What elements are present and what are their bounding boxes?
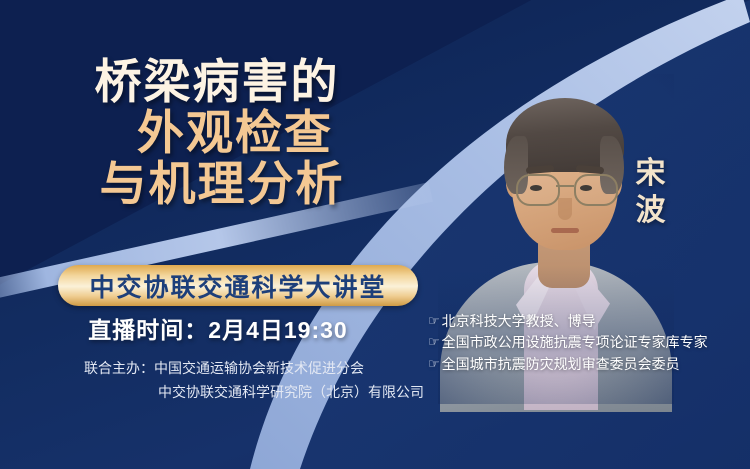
- credential-item: ☞ 全国市政公用设施抗震专项论证专家库专家: [428, 332, 746, 353]
- title-line-3: 与机理分析: [4, 160, 440, 209]
- speaker-name-char-1: 宋: [630, 156, 672, 193]
- credential-item: ☞ 全国城市抗震防灾规划审查委员会委员: [428, 354, 746, 375]
- page-title: 桥梁病害的 外观检查 与机理分析: [0, 58, 440, 209]
- pointing-hand-icon: ☞: [428, 354, 440, 374]
- pointing-hand-icon: ☞: [428, 332, 440, 352]
- organizer-line-1: 联合主办：中国交通运输协会新技术促进分会: [84, 356, 444, 380]
- credential-text: 全国城市抗震防灾规划审查委员会委员: [442, 354, 680, 375]
- speaker-name-char-2: 波: [630, 193, 672, 230]
- organizers-block: 联合主办：中国交通运输协会新技术促进分会 中交协联交通科学研究院（北京）有限公司: [84, 356, 444, 404]
- series-badge: 中交协联交通科学大讲堂: [58, 265, 418, 306]
- live-time-text: 直播时间：2月4日19:30: [0, 311, 436, 345]
- pointing-hand-icon: ☞: [428, 311, 440, 331]
- series-badge-label: 中交协联交通科学大讲堂: [89, 268, 386, 304]
- credential-text: 北京科技大学教授、博导: [442, 311, 596, 332]
- organizer-line-2: 中交协联交通科学研究院（北京）有限公司: [84, 380, 444, 404]
- speaker-credentials: ☞ 北京科技大学教授、博导 ☞ 全国市政公用设施抗震专项论证专家库专家 ☞ 全国…: [428, 311, 746, 375]
- speaker-name: 宋 波: [630, 156, 672, 229]
- webinar-poster: 桥梁病害的 外观检查 与机理分析 中交协联交通科学大讲堂 直播时间：2月4日19…: [0, 0, 750, 469]
- title-line-1: 桥梁病害的: [0, 58, 440, 107]
- title-line-2: 外观检查: [30, 109, 440, 158]
- credential-text: 全国市政公用设施抗震专项论证专家库专家: [442, 332, 708, 353]
- credential-item: ☞ 北京科技大学教授、博导: [428, 311, 746, 332]
